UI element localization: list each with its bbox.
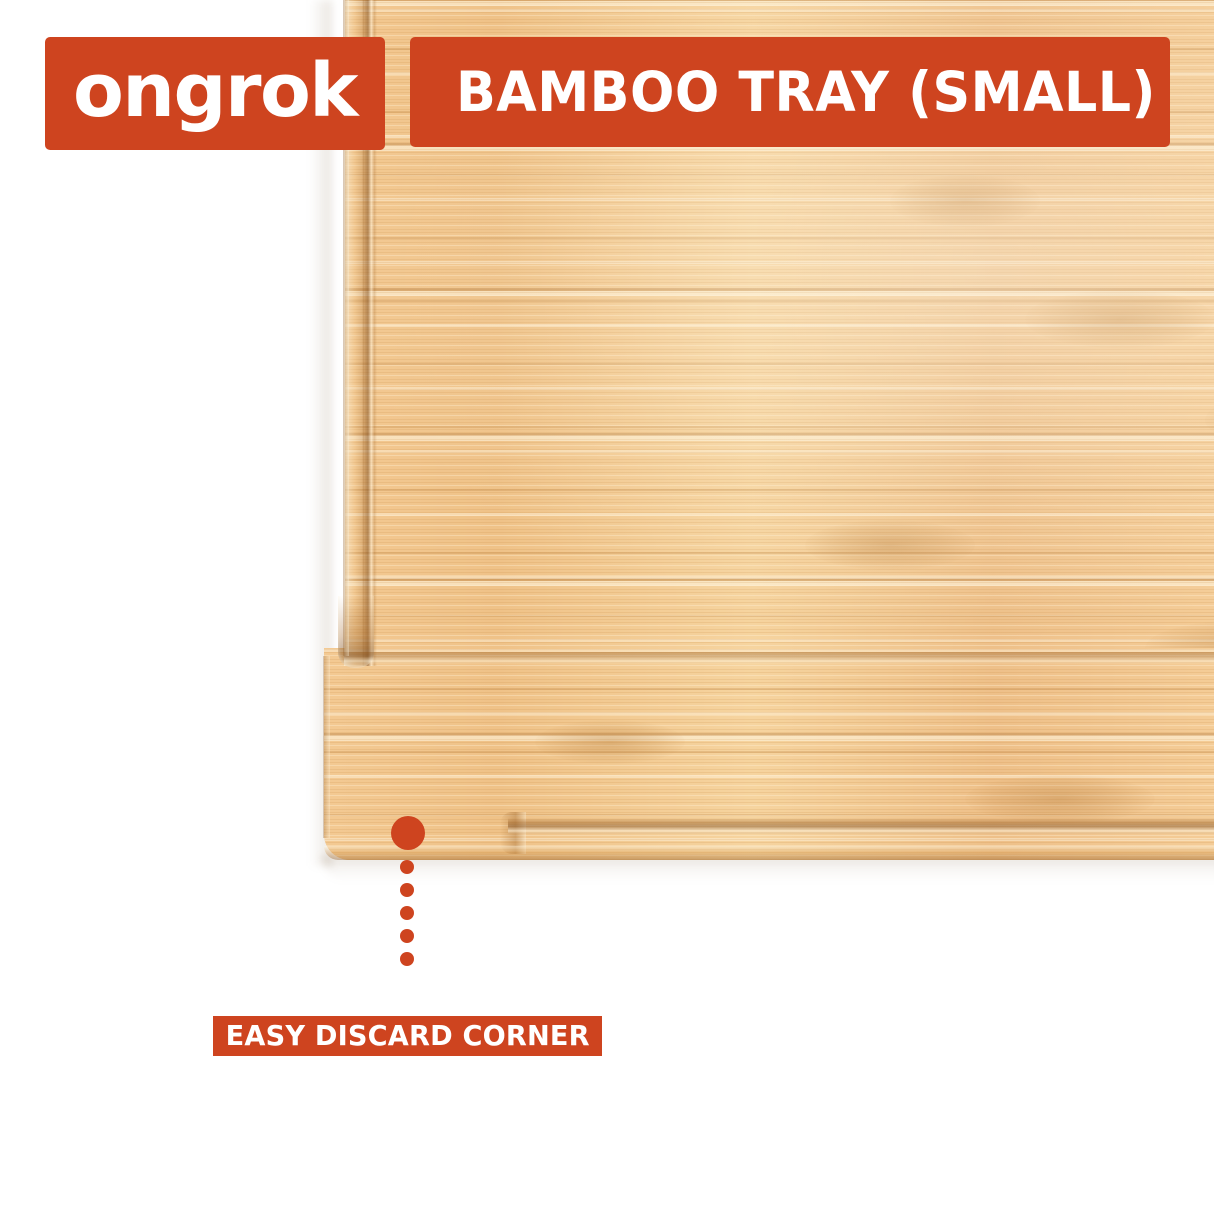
callout-leader-dotted-line [400,860,414,1010]
easy-discard-corner-label: EASY DISCARD CORNER [213,1016,602,1056]
board-lower-slab [324,648,1214,860]
grain-knot [1205,390,1214,450]
grain-knot [965,775,1155,823]
brand-logo-text: ongrok [73,54,357,134]
grain-knot [890,175,1040,227]
horizontal-groove-end-cap [500,812,526,854]
grain-knot [535,720,685,764]
bamboo-grain-texture-lower [324,648,1214,860]
bamboo-tray-product-photo [0,0,1214,1215]
product-marketing-image: ongrok BAMBOO TRAY (SMALL) EASY DISCARD … [0,0,1214,1215]
leader-dot [400,883,414,897]
grain-knot [1145,620,1214,670]
leader-dot [400,929,414,943]
leader-dot [400,952,414,966]
vertical-groove-end-cap [338,596,374,668]
easy-discard-corner-marker-dot [391,816,425,850]
board-shadow-bottom [322,856,1214,882]
horizontal-juice-groove [508,818,1214,834]
brand-logo-banner: ongrok [45,37,385,150]
leader-dot [400,860,414,874]
leader-dot [400,906,414,920]
product-title-text: BAMBOO TRAY (SMALL) [456,65,1156,120]
board-left-edge-lower [323,656,330,838]
board-bottom-edge [324,846,1214,860]
grain-knot [1025,290,1214,348]
grain-knot [805,520,975,570]
callout-label-text: EASY DISCARD CORNER [225,1022,589,1050]
product-title-banner: BAMBOO TRAY (SMALL) [410,37,1170,147]
board-step-edge [344,652,1214,664]
